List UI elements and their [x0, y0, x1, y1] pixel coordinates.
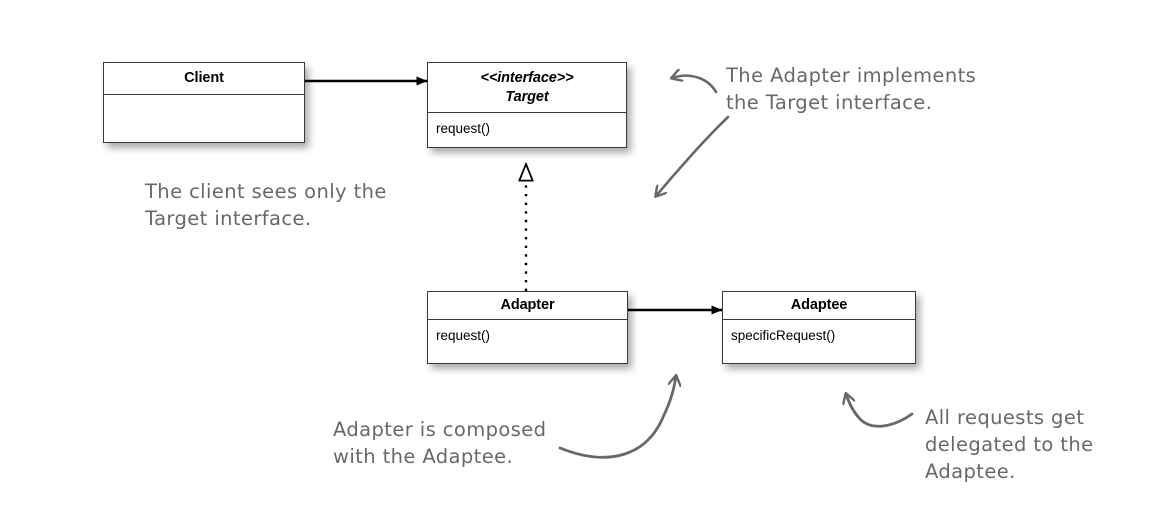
- class-header-adaptee: Adaptee: [723, 292, 915, 320]
- class-name-target: Target: [505, 88, 548, 107]
- class-box-adaptee[interactable]: Adaptee specificRequest(): [722, 291, 916, 364]
- class-box-target[interactable]: <<interface>> Target request(): [427, 62, 627, 148]
- note-client-sees-target: The client sees only the Target interfac…: [145, 178, 425, 232]
- class-box-client[interactable]: Client: [103, 62, 305, 143]
- note-arrow-adapter-implements-hook: [672, 76, 716, 92]
- member-target-request: request(): [436, 121, 490, 136]
- class-members-adapter: request(): [428, 320, 627, 365]
- note-adapter-implements-target: The Adapter implements the Target interf…: [726, 62, 1016, 116]
- class-members-adaptee: specificRequest(): [723, 320, 915, 365]
- class-box-adapter[interactable]: Adapter request(): [427, 291, 628, 364]
- member-adaptee-specific-request: specificRequest(): [731, 328, 835, 343]
- note-requests-delegated-to-adaptee: All requests get delegated to the Adapte…: [925, 404, 1125, 485]
- uml-diagram-canvas: Client <<interface>> Target request() Ad…: [0, 0, 1149, 519]
- class-header-adapter: Adapter: [428, 292, 627, 320]
- class-name-adaptee: Adaptee: [791, 296, 848, 315]
- class-stereotype-target: <<interface>>: [480, 69, 573, 88]
- note-arrow-requests-delegated: [846, 394, 912, 426]
- note-adapter-composed-with-adaptee: Adapter is composed with the Adaptee.: [333, 416, 583, 470]
- class-members-target: request(): [428, 113, 626, 149]
- note-arrow-adapter-implements-long: [656, 117, 728, 196]
- class-name-adapter: Adapter: [500, 296, 554, 315]
- class-header-client: Client: [104, 63, 304, 95]
- class-header-target: <<interface>> Target: [428, 63, 626, 113]
- member-adapter-request: request(): [436, 328, 490, 343]
- class-members-client: [104, 95, 304, 142]
- class-name-client: Client: [184, 69, 224, 88]
